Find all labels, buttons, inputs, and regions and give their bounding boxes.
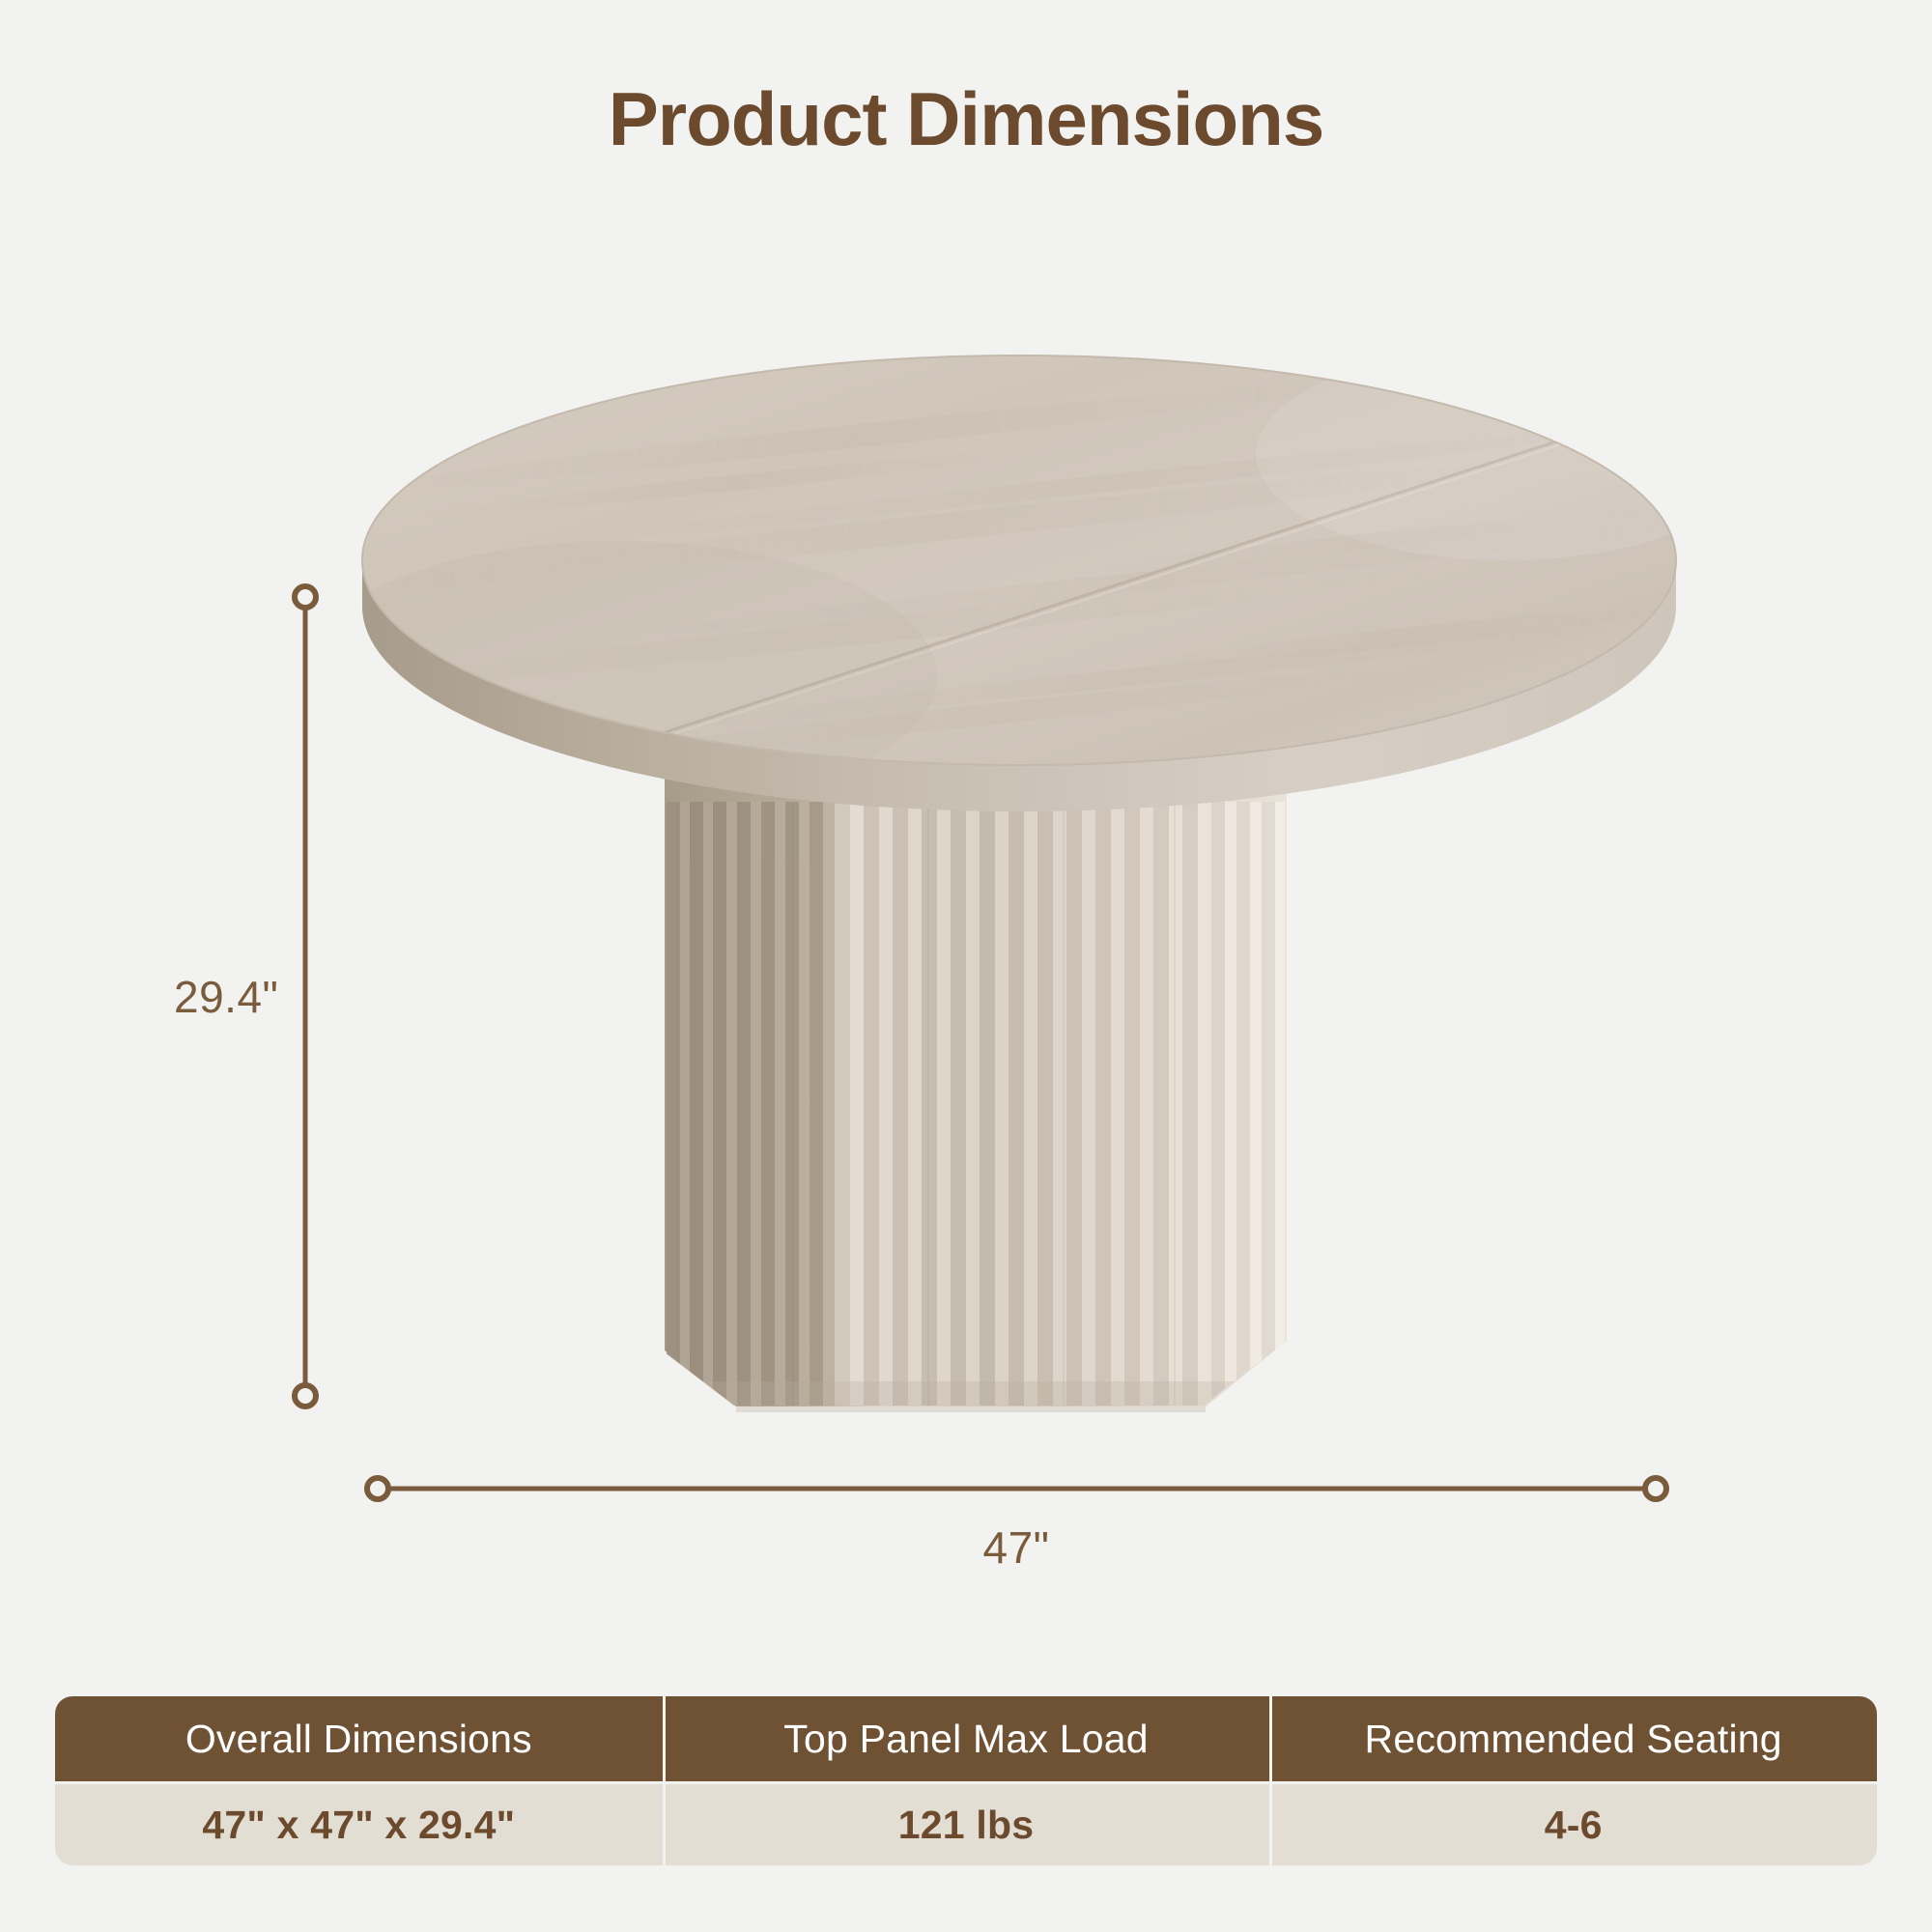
- spec-header-overall-dimensions: Overall Dimensions: [55, 1696, 663, 1781]
- table-base: [665, 734, 1293, 1412]
- height-dimension-label: 29.4": [174, 971, 278, 1023]
- height-dim-cap-top: [295, 586, 316, 608]
- base-flutes-front: [835, 734, 1211, 1410]
- spec-table: Overall Dimensions Top Panel Max Load Re…: [55, 1696, 1877, 1865]
- spec-table-value-row: 47" x 47" x 29.4" 121 lbs 4-6: [55, 1784, 1877, 1865]
- width-dimension-line: [367, 1478, 1666, 1499]
- spec-value-top-panel-max-load: 121 lbs: [663, 1784, 1270, 1865]
- spec-value-overall-dimensions: 47" x 47" x 29.4": [55, 1784, 663, 1865]
- product-dimensions-infographic: Product Dimensions: [0, 0, 1932, 1932]
- product-illustration: [0, 0, 1932, 1642]
- base-flutes-right: [1211, 734, 1287, 1410]
- table-top: [299, 348, 1758, 811]
- width-dimension-label: 47": [0, 1521, 1932, 1574]
- spec-header-recommended-seating: Recommended Seating: [1269, 1696, 1877, 1781]
- height-dim-cap-bottom: [295, 1385, 316, 1406]
- spec-value-recommended-seating: 4-6: [1269, 1784, 1877, 1865]
- width-dim-cap-left: [367, 1478, 388, 1499]
- width-dim-cap-right: [1645, 1478, 1666, 1499]
- base-flutes-left: [667, 734, 835, 1410]
- spec-table-header-row: Overall Dimensions Top Panel Max Load Re…: [55, 1696, 1877, 1781]
- spec-header-top-panel-max-load: Top Panel Max Load: [663, 1696, 1270, 1781]
- height-dimension-line: [295, 586, 316, 1406]
